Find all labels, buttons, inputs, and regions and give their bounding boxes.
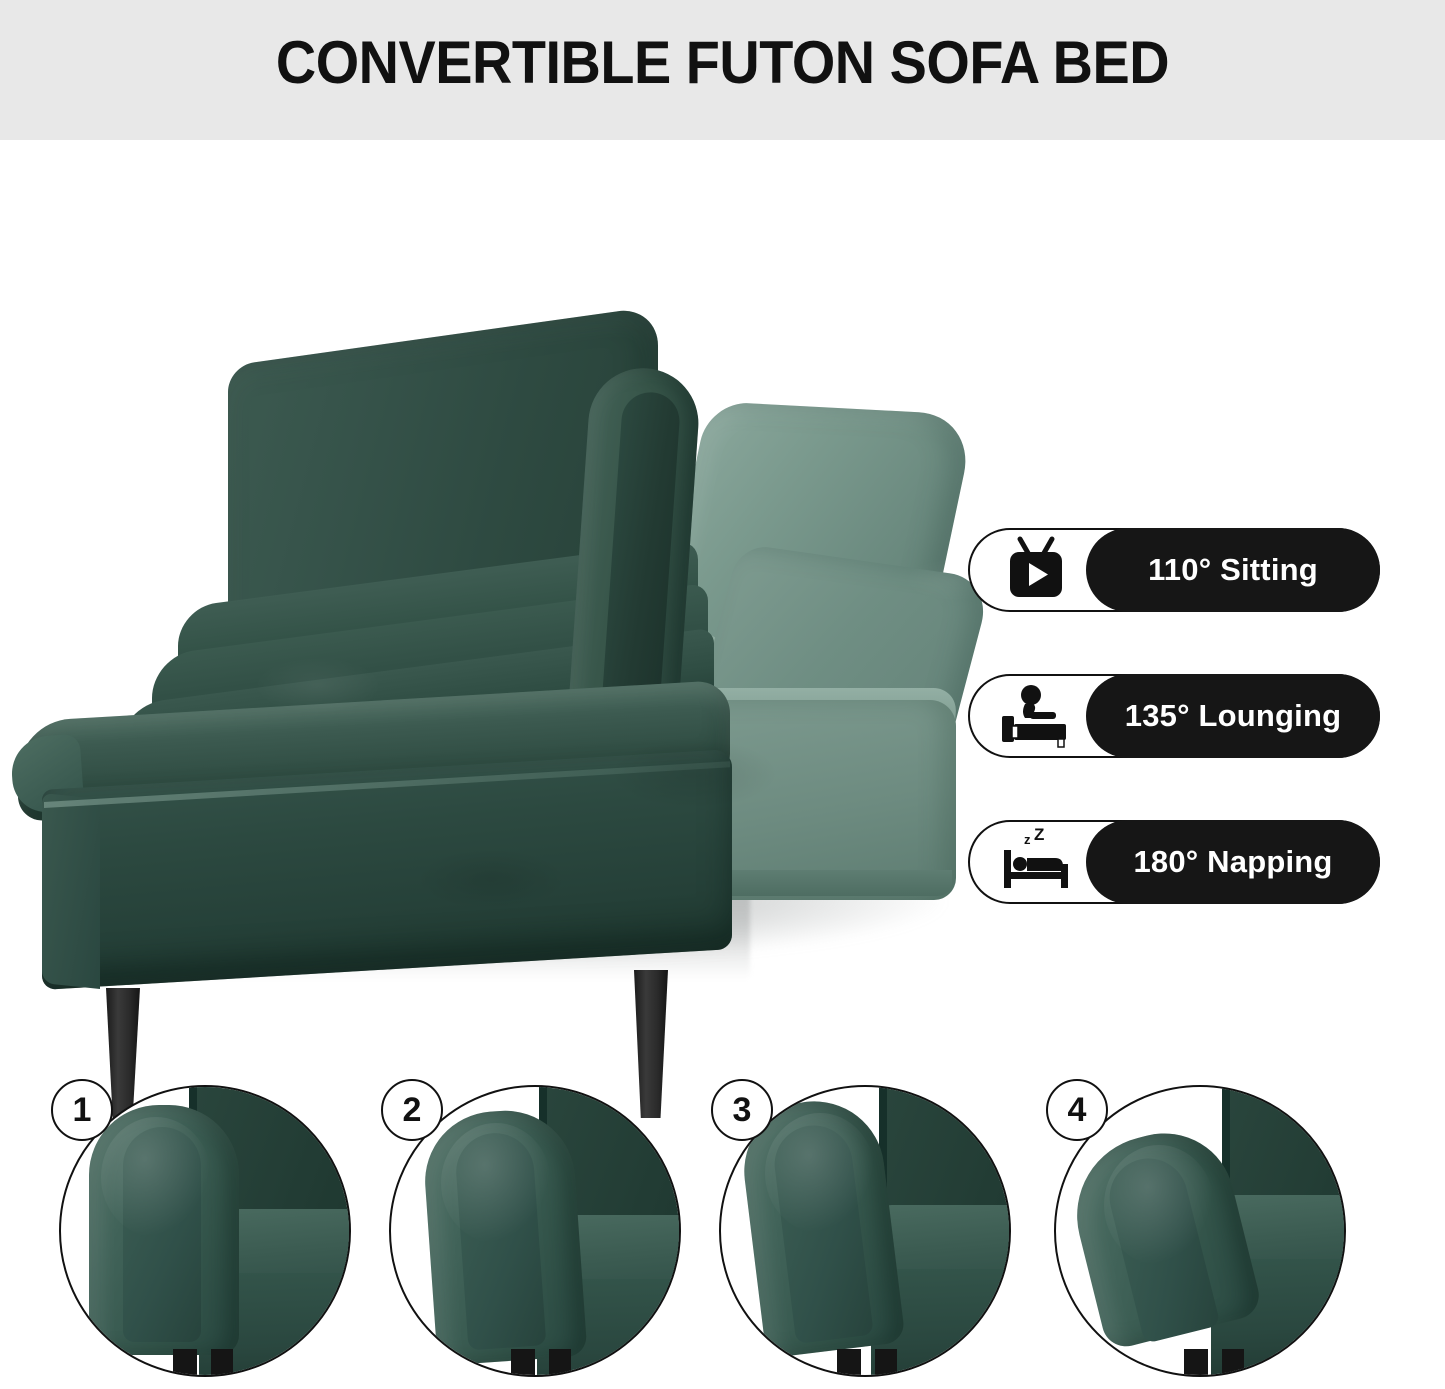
closeup-highlight xyxy=(1104,1145,1214,1265)
badge-lounging[interactable]: 135° Lounging xyxy=(968,674,1398,758)
closeup-leg-b xyxy=(1222,1349,1244,1377)
closeup-leg-a xyxy=(173,1349,197,1377)
detail-callout-1[interactable]: 1 xyxy=(59,1085,351,1377)
svg-text:z: z xyxy=(1024,832,1031,847)
detail-callout-row: 1 2 xyxy=(0,1020,1445,1389)
product-hero-image: 110° Sitting 135° Lounging xyxy=(0,140,1445,1020)
closeup-leg-b xyxy=(211,1349,233,1377)
closeup-leg-b xyxy=(549,1349,571,1377)
page-title: CONVERTIBLE FUTON SOFA BED xyxy=(51,28,1395,97)
badge-pill: 110° Sitting xyxy=(1086,528,1380,612)
feature-badge-list: 110° Sitting 135° Lounging xyxy=(968,528,1398,966)
closeup-leg-a xyxy=(511,1349,535,1377)
tv-icon xyxy=(994,536,1076,604)
person-sleeping-bed-icon: z Z xyxy=(994,828,1076,896)
svg-text:Z: Z xyxy=(1034,828,1044,844)
closeup-leg-a xyxy=(1184,1349,1208,1377)
callout-number-badge: 1 xyxy=(51,1079,113,1141)
closeup-leg-b xyxy=(875,1349,897,1377)
product-infographic: CONVERTIBLE FUTON SOFA BED xyxy=(0,0,1445,1389)
person-lounging-icon xyxy=(994,682,1076,750)
badge-label: 180° Napping xyxy=(1133,844,1332,880)
callout-number-badge: 2 xyxy=(381,1079,443,1141)
sofa-base-left-face xyxy=(42,793,100,989)
badge-label: 135° Lounging xyxy=(1125,698,1342,734)
detail-callout-3[interactable]: 3 xyxy=(719,1085,1011,1377)
badge-sitting[interactable]: 110° Sitting xyxy=(968,528,1398,612)
badge-pill: 135° Lounging xyxy=(1086,674,1380,758)
badge-label: 110° Sitting xyxy=(1148,552,1318,588)
detail-callout-2[interactable]: 2 xyxy=(389,1085,681,1377)
badge-pill: 180° Napping xyxy=(1086,820,1380,904)
closeup-leg-a xyxy=(837,1349,861,1377)
closeup-highlight xyxy=(765,1113,875,1233)
detail-callout-4[interactable]: 4 xyxy=(1054,1085,1346,1377)
closeup-highlight xyxy=(441,1123,551,1243)
closeup-highlight xyxy=(101,1117,211,1237)
callout-number-badge: 4 xyxy=(1046,1079,1108,1141)
badge-napping[interactable]: 180° Napping z Z xyxy=(968,820,1398,904)
callout-number-badge: 3 xyxy=(711,1079,773,1141)
